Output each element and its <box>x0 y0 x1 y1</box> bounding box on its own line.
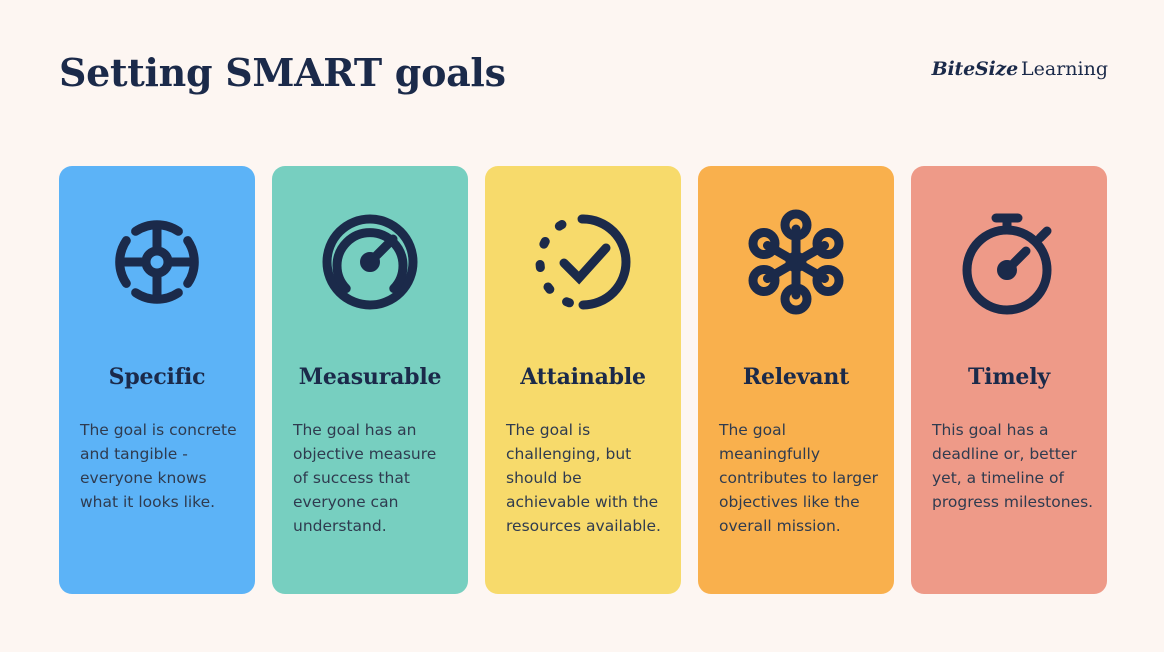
slide-header: Setting SMART goals BiteSizeLearning <box>0 0 1164 140</box>
smart-card-list: Specific The goal is concrete and tangib… <box>59 166 1106 594</box>
card-body-relevant: The goal meaningfully contributes to lar… <box>719 418 881 538</box>
brand-name-primary: BiteSize <box>932 58 1018 80</box>
network-hub-icon <box>698 202 894 322</box>
card-body-timely: This goal has a deadline or, better yet,… <box>932 418 1094 514</box>
gauge-icon <box>272 202 468 322</box>
card-body-specific: The goal is concrete and tangible - ever… <box>80 418 242 514</box>
stopwatch-icon <box>911 202 1107 322</box>
card-title-relevant: Relevant <box>698 364 894 390</box>
card-attainable[interactable]: Attainable The goal is challenging, but … <box>485 166 681 594</box>
page-title: Setting SMART goals <box>59 50 506 95</box>
slide-canvas: Setting SMART goals BiteSizeLearning <box>0 0 1164 652</box>
card-specific[interactable]: Specific The goal is concrete and tangib… <box>59 166 255 594</box>
card-measurable[interactable]: Measurable The goal has an objective mea… <box>272 166 468 594</box>
card-relevant[interactable]: Relevant The goal meaningfully contribut… <box>698 166 894 594</box>
card-body-attainable: The goal is challenging, but should be a… <box>506 418 668 538</box>
card-title-timely: Timely <box>911 364 1107 390</box>
card-body-measurable: The goal has an objective measure of suc… <box>293 418 455 538</box>
brand-name-secondary: Learning <box>1021 58 1108 80</box>
card-timely[interactable]: Timely This goal has a deadline or, bett… <box>911 166 1107 594</box>
card-title-attainable: Attainable <box>485 364 681 390</box>
target-icon <box>59 202 255 322</box>
card-title-specific: Specific <box>59 364 255 390</box>
brand-logo: BiteSizeLearning <box>932 60 1108 79</box>
check-circle-dashed-icon <box>485 202 681 322</box>
card-title-measurable: Measurable <box>272 364 468 390</box>
